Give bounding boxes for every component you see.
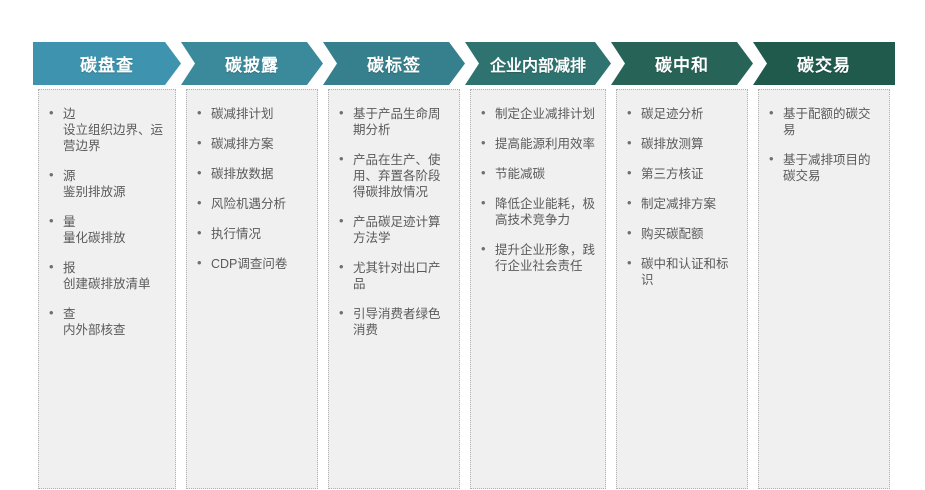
list-item: 查 内外部核查 xyxy=(45,306,167,338)
stage-title-carbon-neutrality: 碳中和 xyxy=(655,51,709,76)
item-title: 降低企业能耗，极高技术竞争力 xyxy=(495,196,597,228)
list-item: 产品在生产、使用、弃置各阶段得碳排放情况 xyxy=(335,152,451,200)
stage-header-carbon-trading[interactable]: 碳交易 xyxy=(753,42,895,85)
item-title: 提高能源利用效率 xyxy=(495,136,597,152)
list-item: 边 设立组织边界、运营边界 xyxy=(45,106,167,154)
list-item: 碳中和认证和标识 xyxy=(623,256,739,288)
item-title: 基于减排项目的碳交易 xyxy=(783,152,881,184)
item-title: 基于产品生命周期分析 xyxy=(353,106,451,138)
stage-title-carbon-label: 碳标签 xyxy=(367,51,421,76)
bullet-list-carbon-trading: 基于配额的碳交易 基于减排项目的碳交易 xyxy=(765,106,881,184)
list-item: 碳减排方案 xyxy=(193,136,309,152)
stage-header-carbon-neutrality[interactable]: 碳中和 xyxy=(611,42,753,85)
item-title: 碳减排计划 xyxy=(211,106,309,122)
stage-body-carbon-disclosure: 碳减排计划 碳减排方案 碳排放数据 风险机遇分析 执行情况 CDP调查问卷 xyxy=(186,89,318,489)
stage-title-carbon-inventory: 碳盘查 xyxy=(80,51,134,76)
list-item: 源 鉴别排放源 xyxy=(45,168,167,200)
list-item: 制定企业减排计划 xyxy=(477,106,597,122)
item-title: 碳减排方案 xyxy=(211,136,309,152)
item-title: 报 xyxy=(63,260,167,276)
list-item: 基于产品生命周期分析 xyxy=(335,106,451,138)
list-item: 提高能源利用效率 xyxy=(477,136,597,152)
item-title: 量 xyxy=(63,214,167,230)
stage-title-carbon-trading: 碳交易 xyxy=(797,51,851,76)
bullet-list-internal-emission-reduction: 制定企业减排计划 提高能源利用效率 节能减碳 降低企业能耗，极高技术竞争力 提升… xyxy=(477,106,597,274)
item-detail: 量化碳排放 xyxy=(63,230,167,246)
list-item: 基于配额的碳交易 xyxy=(765,106,881,138)
list-item: 尤其针对出口产品 xyxy=(335,260,451,292)
item-title: 产品碳足迹计算方法学 xyxy=(353,214,451,246)
list-item: 碳排放数据 xyxy=(193,166,309,182)
item-title: 节能减碳 xyxy=(495,166,597,182)
list-item: 碳减排计划 xyxy=(193,106,309,122)
list-item: 第三方核证 xyxy=(623,166,739,182)
item-title: 风险机遇分析 xyxy=(211,196,309,212)
item-title: 尤其针对出口产品 xyxy=(353,260,451,292)
list-item: 基于减排项目的碳交易 xyxy=(765,152,881,184)
bullet-list-carbon-inventory: 边 设立组织边界、运营边界 源 鉴别排放源 量 量化碳排放 报 创建碳排放清单 … xyxy=(45,106,167,338)
bullet-list-carbon-label: 基于产品生命周期分析 产品在生产、使用、弃置各阶段得碳排放情况 产品碳足迹计算方… xyxy=(335,106,451,338)
item-title: 边 xyxy=(63,106,167,122)
list-item: 风险机遇分析 xyxy=(193,196,309,212)
item-title: 制定企业减排计划 xyxy=(495,106,597,122)
list-item: 节能减碳 xyxy=(477,166,597,182)
stage-title-carbon-disclosure: 碳披露 xyxy=(225,51,279,76)
bullet-list-carbon-neutrality: 碳足迹分析 碳排放测算 第三方核证 制定减排方案 购买碳配额 碳中和认证和标识 xyxy=(623,106,739,288)
stage-header-carbon-label[interactable]: 碳标签 xyxy=(323,42,465,85)
item-title: 提升企业形象，践行企业社会责任 xyxy=(495,242,597,274)
list-item: 降低企业能耗，极高技术竞争力 xyxy=(477,196,597,228)
item-title: 查 xyxy=(63,306,167,322)
item-detail: 设立组织边界、运营边界 xyxy=(63,122,167,154)
item-title: 执行情况 xyxy=(211,226,309,242)
list-item: 产品碳足迹计算方法学 xyxy=(335,214,451,246)
list-item: 碳足迹分析 xyxy=(623,106,739,122)
item-title: CDP调查问卷 xyxy=(211,256,309,272)
list-item: 执行情况 xyxy=(193,226,309,242)
stage-body-carbon-neutrality: 碳足迹分析 碳排放测算 第三方核证 制定减排方案 购买碳配额 碳中和认证和标识 xyxy=(616,89,748,489)
carbon-process-diagram: 碳盘查 边 设立组织边界、运营边界 源 鉴别排放源 量 量化碳排放 报 创建碳排 xyxy=(0,0,925,490)
bullet-list-carbon-disclosure: 碳减排计划 碳减排方案 碳排放数据 风险机遇分析 执行情况 CDP调查问卷 xyxy=(193,106,309,272)
stage-header-carbon-disclosure[interactable]: 碳披露 xyxy=(181,42,323,85)
item-title: 碳中和认证和标识 xyxy=(641,256,739,288)
stage-header-internal-emission-reduction[interactable]: 企业内部减排 xyxy=(465,42,611,85)
stage-body-carbon-trading: 基于配额的碳交易 基于减排项目的碳交易 xyxy=(758,89,890,489)
item-title: 碳排放测算 xyxy=(641,136,739,152)
list-item: CDP调查问卷 xyxy=(193,256,309,272)
item-title: 源 xyxy=(63,168,167,184)
stage-body-carbon-label: 基于产品生命周期分析 产品在生产、使用、弃置各阶段得碳排放情况 产品碳足迹计算方… xyxy=(328,89,460,489)
item-title: 基于配额的碳交易 xyxy=(783,106,881,138)
item-title: 碳排放数据 xyxy=(211,166,309,182)
list-item: 购买碳配额 xyxy=(623,226,739,242)
stage-body-carbon-inventory: 边 设立组织边界、运营边界 源 鉴别排放源 量 量化碳排放 报 创建碳排放清单 … xyxy=(38,89,176,489)
item-title: 引导消费者绿色消费 xyxy=(353,306,451,338)
list-item: 报 创建碳排放清单 xyxy=(45,260,167,292)
item-detail: 内外部核查 xyxy=(63,322,167,338)
stage-header-carbon-inventory[interactable]: 碳盘查 xyxy=(33,42,181,85)
list-item: 碳排放测算 xyxy=(623,136,739,152)
list-item: 量 量化碳排放 xyxy=(45,214,167,246)
item-title: 购买碳配额 xyxy=(641,226,739,242)
item-title: 碳足迹分析 xyxy=(641,106,739,122)
list-item: 提升企业形象，践行企业社会责任 xyxy=(477,242,597,274)
item-title: 制定减排方案 xyxy=(641,196,739,212)
list-item: 引导消费者绿色消费 xyxy=(335,306,451,338)
item-title: 第三方核证 xyxy=(641,166,739,182)
list-item: 制定减排方案 xyxy=(623,196,739,212)
item-detail: 创建碳排放清单 xyxy=(63,276,167,292)
stage-body-internal-emission-reduction: 制定企业减排计划 提高能源利用效率 节能减碳 降低企业能耗，极高技术竞争力 提升… xyxy=(470,89,606,489)
item-detail: 鉴别排放源 xyxy=(63,184,167,200)
item-title: 产品在生产、使用、弃置各阶段得碳排放情况 xyxy=(353,152,451,200)
stage-title-internal-emission-reduction: 企业内部减排 xyxy=(490,52,586,76)
